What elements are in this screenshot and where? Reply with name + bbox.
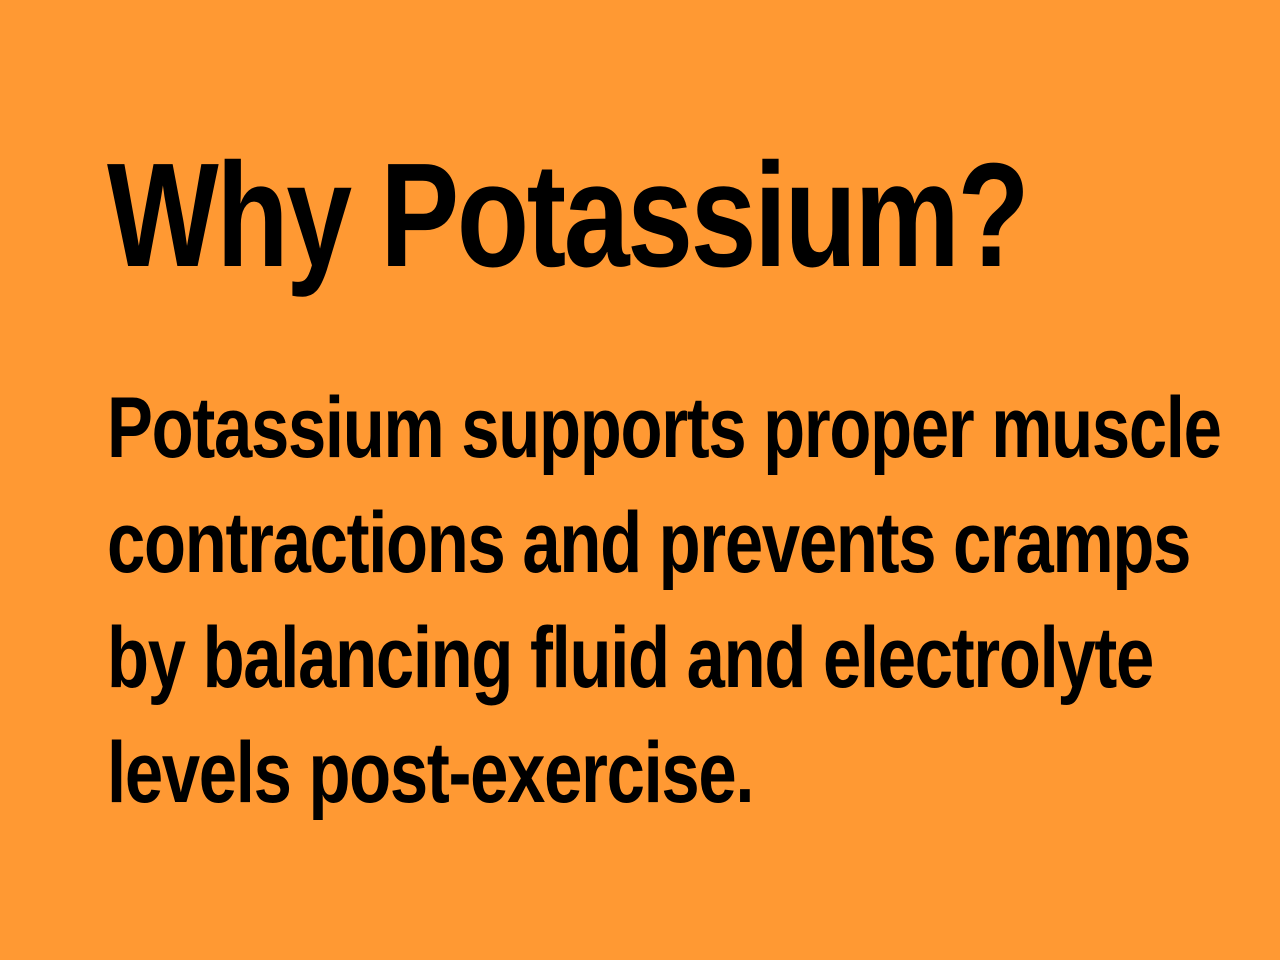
body-line: Potassium supports proper muscle <box>107 371 1191 486</box>
page-title: Why Potassium? <box>107 150 979 282</box>
body-line: levels post-exercise. <box>107 716 1191 831</box>
body-block: Potassium supports proper muscle contrac… <box>107 371 1280 831</box>
body-line: by balancing fluid and electrolyte <box>107 601 1191 716</box>
body-line: contractions and prevents cramps <box>107 486 1191 601</box>
body-paragraph: Potassium supports proper muscle contrac… <box>107 371 1191 831</box>
slide-canvas: Why Potassium? Potassium supports proper… <box>0 0 1280 960</box>
title-block: Why Potassium? <box>107 150 1197 282</box>
